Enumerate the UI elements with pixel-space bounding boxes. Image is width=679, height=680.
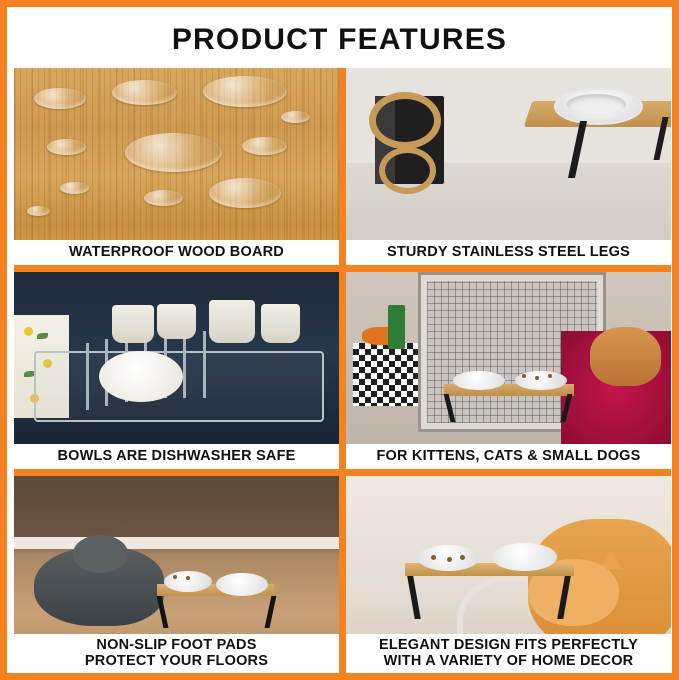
wood-board-edge [379, 147, 437, 194]
kibble [460, 555, 465, 560]
ceramic-bowl-right [216, 573, 268, 597]
ceramic-bowl [112, 305, 154, 342]
photo-for-kittens-cats-small-dogs [346, 272, 671, 469]
feature-caption-line1: NON-SLIP FOOT PADS [16, 637, 337, 653]
checkered-bin [353, 343, 418, 406]
feature-cell-elegant-design: ELEGANT DESIGN FITS PERFECTLY WITH A VAR… [346, 476, 671, 673]
feature-caption-line1: ELEGANT DESIGN FITS PERFECTLY [348, 637, 669, 653]
water-droplet [125, 133, 223, 172]
water-droplet [209, 178, 281, 208]
kibble [173, 575, 177, 579]
wall-background [14, 476, 339, 541]
green-toy [388, 305, 404, 348]
grey-cat-head [73, 535, 128, 572]
leaf-print [37, 333, 48, 339]
photo-stainless-steel-legs [346, 68, 671, 265]
baseboard [14, 537, 339, 549]
feature-cell-dishwasher-safe: BOWLS ARE DISHWASHER SAFE [14, 272, 339, 469]
feature-caption-line2: PROTECT YOUR FLOORS [16, 653, 337, 669]
water-droplet [27, 206, 50, 216]
feature-caption: STURDY STAINLESS STEEL LEGS [346, 240, 671, 265]
rack-tine [183, 331, 186, 398]
ceramic-cup [209, 300, 255, 343]
feature-caption-line2: WITH A VARIETY OF HOME DECOR [348, 653, 669, 669]
feature-caption: NON-SLIP FOOT PADS PROTECT YOUR FLOORS [14, 634, 339, 673]
ceramic-bowl-left [164, 571, 213, 593]
feature-cell-non-slip-foot-pads: NON-SLIP FOOT PADS PROTECT YOUR FLOORS [14, 476, 339, 673]
feature-cell-waterproof-wood-board: WATERPROOF WOOD BOARD [14, 68, 339, 265]
kibble [431, 555, 436, 560]
rack-tine [203, 331, 206, 398]
rack-tine [86, 343, 89, 410]
ceramic-bowl-inner [567, 94, 626, 116]
ceramic-bowl-left [453, 371, 505, 391]
water-droplet [242, 137, 288, 155]
ceramic-cup [261, 304, 300, 343]
water-droplet [60, 182, 89, 194]
photo-waterproof-wood-board [14, 68, 339, 265]
feature-caption: ELEGANT DESIGN FITS PERFECTLY WITH A VAR… [346, 634, 671, 673]
feature-caption: FOR KITTENS, CATS & SMALL DOGS [346, 444, 671, 469]
feature-caption: BOWLS ARE DISHWASHER SAFE [14, 444, 339, 469]
lemon-print [24, 327, 33, 336]
page-title: PRODUCT FEATURES [7, 23, 672, 57]
feature-grid: WATERPROOF WOOD BOARD STURDY STAINLESS S… [14, 68, 671, 673]
kibble [447, 557, 452, 562]
feature-cell-for-kittens-cats-small-dogs: FOR KITTENS, CATS & SMALL DOGS [346, 272, 671, 469]
water-droplet [47, 139, 86, 155]
feature-caption: WATERPROOF WOOD BOARD [14, 240, 339, 265]
ceramic-bowl-front [99, 351, 184, 402]
water-droplet [281, 111, 310, 123]
water-droplet [144, 190, 183, 206]
water-droplet [34, 88, 86, 110]
feature-cell-stainless-steel-legs: STURDY STAINLESS STEEL LEGS [346, 68, 671, 265]
product-features-poster: PRODUCT FEATURES WATERPROOF WOOD BOARD [0, 0, 679, 680]
photo-dishwasher-safe [14, 272, 339, 469]
ceramic-bowl [157, 304, 196, 339]
dog [590, 327, 662, 386]
wood-board-edge [369, 92, 442, 149]
ceramic-bowl-right [492, 543, 557, 571]
water-droplet [112, 80, 177, 106]
